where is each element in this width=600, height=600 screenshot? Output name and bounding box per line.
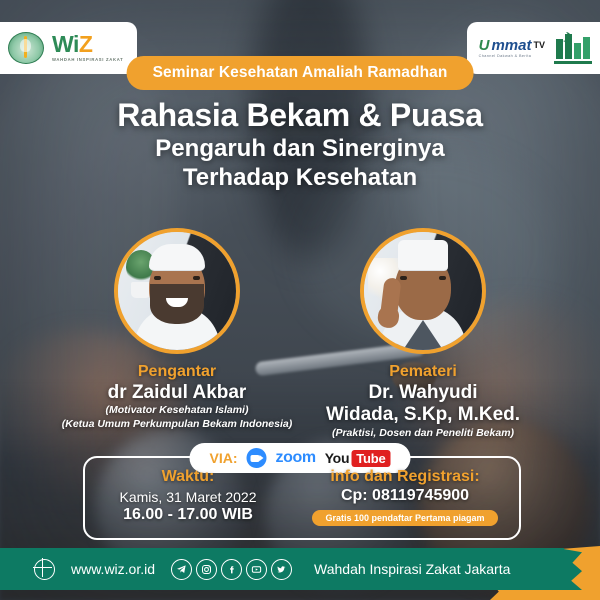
footer-handle: Wahdah Inspirasi Zakat Jakarta [314,561,510,577]
imf-base [554,61,592,64]
registration-contact[interactable]: Cp: 08119745900 [300,487,510,505]
title-line-1: Rahasia Bekam & Puasa [0,98,600,134]
wiz-logo-text: WiZ WAHDAH INSPIRASI ZAKAT [52,33,123,62]
imf-logo-icon [554,32,592,64]
registration-heading: info dan Registrasi: [300,468,510,486]
zoom-camera-icon [247,448,267,468]
registration-promo-badge: Gratis 100 pendaftar Pertama piagam [312,510,497,526]
social-links [171,559,292,580]
registration-block: info dan Registrasi: Cp: 08119745900 Gra… [300,468,510,526]
speaker-card-pemateri: Pemateri Dr. Wahyudi Widada, S.Kp, M.Ked… [298,228,548,440]
photo-peci-cap [398,240,448,271]
globe-icon [34,559,55,580]
speaker-photo-zaidul-akbar [118,232,236,350]
twitter-icon[interactable] [271,559,292,580]
schedule-date: Kamis, 31 Maret 2022 [88,489,288,505]
speaker-name: dr Zaidul Akbar [52,382,302,403]
speaker-role: Pemateri [298,363,548,381]
ummat-letter-u: U [479,38,490,53]
wiz-wordmark: WiZ [52,33,123,56]
via-label: VIA: [210,450,238,466]
ummat-tv-suffix: TV [533,41,545,50]
speaker-name-line-2: Widada, S.Kp, M.Ked. [298,404,548,425]
youtube-icon[interactable] [246,559,267,580]
telegram-icon[interactable] [171,559,192,580]
avatar [360,228,486,354]
wiz-tagline: WAHDAH INSPIRASI ZAKAT [52,58,123,62]
speaker-photo-wahyudi-widada [364,232,482,350]
title-line-2: Pengaruh dan Sinerginya [0,135,600,164]
imf-bar [556,39,563,59]
photo-plant-pot [131,282,151,298]
wiz-letter-z: Z [79,31,93,57]
ummat-tv-wordmark: Ummat TV [479,38,545,53]
wiz-letter-w: W [52,31,73,57]
ummat-rest: mmat [491,38,531,53]
youtube-icon[interactable]: You Tube [325,450,391,467]
footer-website[interactable]: www.wiz.or.id [71,561,155,577]
mosque-globe-emblem-icon [8,32,44,64]
photo-eye [154,276,161,280]
photo-eye [439,276,446,280]
zoom-wordmark[interactable]: zoom [276,449,316,467]
ummat-tv-tagline: Channel Dakwah & Berita [479,55,545,59]
imf-bar [574,43,581,59]
photo-kufi-cap [149,244,205,271]
speaker-credential: (Ketua Umum Perkumpulan Bekam Indonesia) [52,417,302,431]
ummat-tv-logo: Ummat TV Channel Dakwah & Berita [479,38,545,59]
speaker-credential: (Motivator Kesehatan Islami) [52,403,302,417]
speaker-credential: (Praktisi, Dosen dan Peneliti Bekam) [298,426,548,440]
imf-bar [583,37,590,59]
partner-logos: Ummat TV Channel Dakwah & Berita [467,22,600,74]
avatar [114,228,240,354]
imf-bar [565,34,572,59]
wiz-logo: WiZ WAHDAH INSPIRASI ZAKAT [0,22,137,74]
youtube-tube-text: Tube [351,450,390,467]
page-title: Rahasia Bekam & Puasa Pengaruh dan Siner… [0,98,600,192]
seminar-badge: Seminar Kesehatan Amaliah Ramadhan [127,56,474,90]
speaker-name-line-1: Dr. Wahyudi [298,382,548,403]
speaker-role: Pengantar [52,363,302,381]
facebook-icon[interactable] [221,559,242,580]
photo-eye [193,276,200,280]
footer-bar: www.wiz.or.id Wahdah Inspirasi Zakat Jak… [0,548,564,590]
speaker-card-pengantar: Pengantar dr Zaidul Akbar (Motivator Kes… [52,228,302,432]
schedule-block: Waktu: Kamis, 31 Maret 2022 16.00 - 17.0… [88,468,288,524]
youtube-you-text: You [325,450,350,466]
photo-eye [400,276,407,280]
schedule-heading: Waktu: [88,468,288,486]
schedule-time: 16.00 - 17.00 WIB [88,506,288,524]
instagram-icon[interactable] [196,559,217,580]
event-poster: WiZ WAHDAH INSPIRASI ZAKAT Ummat TV Chan… [0,0,600,600]
title-line-3: Terhadap Kesehatan [0,164,600,193]
